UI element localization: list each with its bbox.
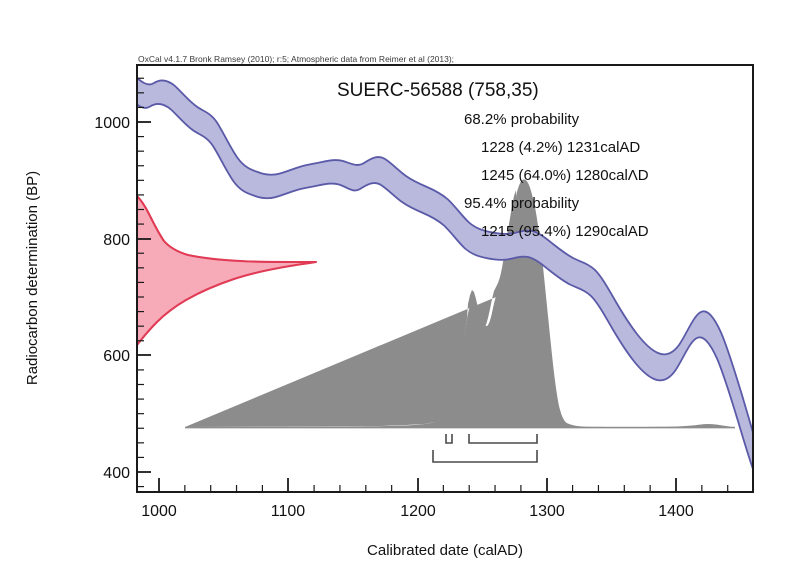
calibration-plot-svg: OxCal v4.1.7 Bronk Ramsey (2010); r:5; A… <box>0 0 785 576</box>
annotation-line-3: 95.4% probability <box>464 195 580 212</box>
y-tick-label-800: 800 <box>103 232 130 249</box>
annotation-line-4: 1215 (95.4%) 1290calAD <box>481 223 649 240</box>
annotation-line-0: 68.2% probability <box>464 111 580 128</box>
x-tick-label-1300: 1300 <box>529 503 565 520</box>
annotation-line-1: 1228 (4.2%) 1231calAD <box>481 139 640 156</box>
annotation-sample-title: SUERC-56588 (758,35) <box>337 80 539 101</box>
y-axis-title: Radiocarbon determination (BP) <box>24 171 41 385</box>
x-axis-title: Calibrated date (calAD) <box>367 542 523 559</box>
oxcal-credit-text: OxCal v4.1.7 Bronk Ramsey (2010); r:5; A… <box>138 54 454 64</box>
x-tick-label-1000: 1000 <box>141 503 177 520</box>
x-tick-label-1100: 1100 <box>271 503 306 520</box>
x-tick-label-1200: 1200 <box>400 503 436 520</box>
y-tick-label-1000: 1000 <box>94 115 130 132</box>
x-tick-label-1400: 1400 <box>658 503 694 520</box>
annotation-line-2: 1245 (64.0%) 1280calΛD <box>481 167 649 184</box>
y-tick-label-400: 400 <box>103 465 130 482</box>
y-tick-label-600: 600 <box>103 348 130 365</box>
calibration-plot: OxCal v4.1.7 Bronk Ramsey (2010); r:5; A… <box>0 0 785 576</box>
